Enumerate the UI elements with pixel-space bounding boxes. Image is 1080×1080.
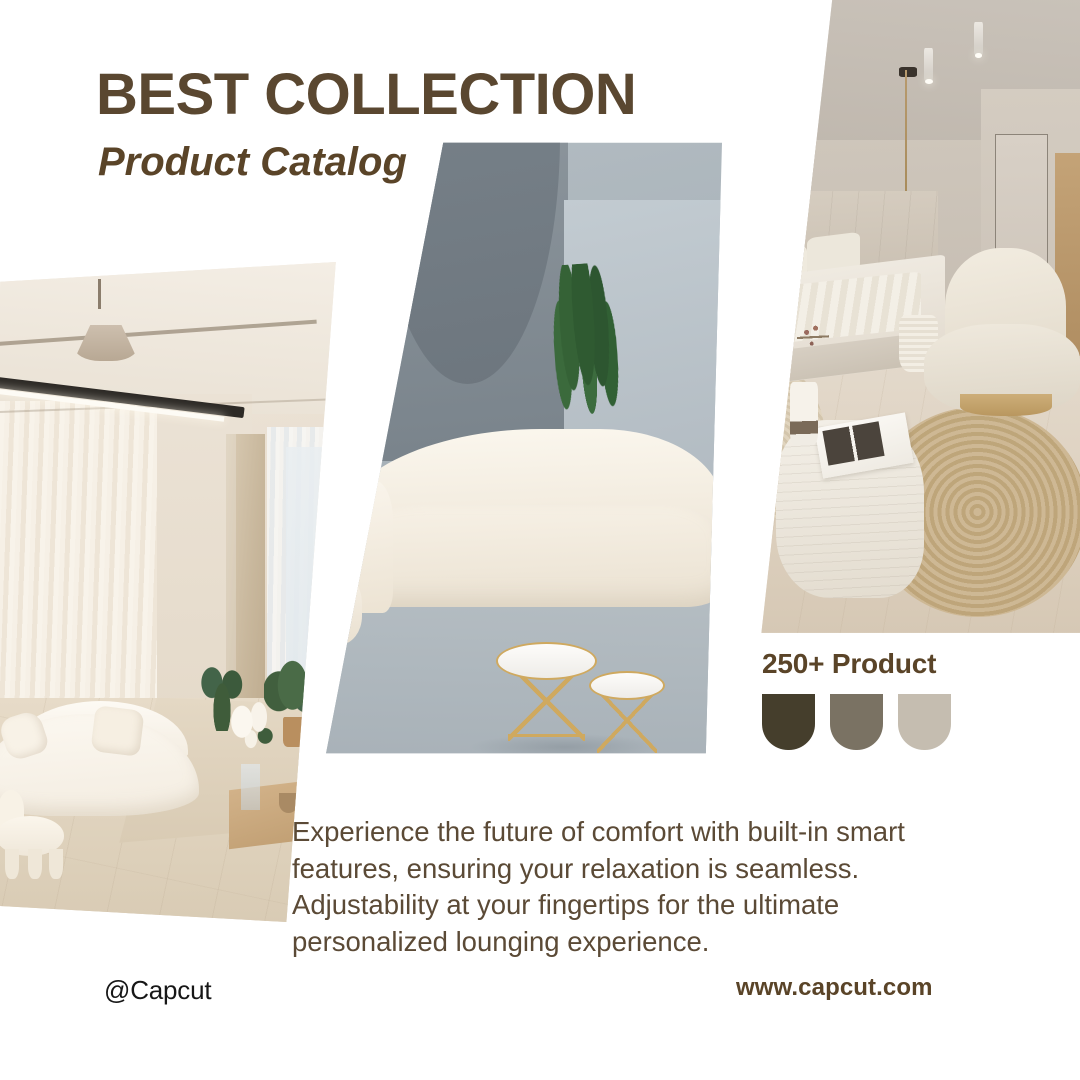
poster-canvas: BEST COLLECTION Product Catalog 250+ Pro… <box>0 0 1080 1080</box>
sofa-studio-photo <box>318 130 722 766</box>
wooden-bowl-large <box>309 770 339 791</box>
bed-pillow <box>754 245 807 293</box>
bedroom-photo <box>726 0 1080 636</box>
social-handle: @Capcut <box>104 975 211 1006</box>
ceramic-vase <box>790 382 818 446</box>
marble-side-table <box>589 671 666 700</box>
marble-coffee-table <box>496 642 597 680</box>
cushion-right <box>90 705 145 757</box>
body-description: Experience the future of comfort with bu… <box>292 814 970 960</box>
coffee-table-crossbar <box>508 734 585 737</box>
ceiling-spotlight-icon <box>974 22 983 55</box>
swatch-light-beige[interactable] <box>898 694 951 750</box>
sofa-studio-scene <box>318 130 722 766</box>
wooden-bowl-small <box>279 793 298 813</box>
swatch-dark-olive-brown[interactable] <box>762 694 815 750</box>
product-count-label: 250+ Product <box>762 650 951 678</box>
page-title: BEST COLLECTION <box>96 66 636 124</box>
pendant-rod <box>98 279 101 309</box>
ceiling-spotlight-icon <box>924 48 933 81</box>
plant-pot <box>283 717 306 747</box>
swatch-medium-taupe[interactable] <box>830 694 883 750</box>
page-subtitle: Product Catalog <box>98 140 407 184</box>
website-url[interactable]: www.capcut.com <box>736 974 933 1002</box>
bedroom-scene <box>726 0 1080 636</box>
round-ottoman <box>318 569 362 645</box>
stool-leg <box>49 849 63 879</box>
color-swatch-row <box>762 694 951 750</box>
pendant-ceiling-cap <box>899 67 917 77</box>
brass-chair-base <box>960 394 1052 416</box>
stool-leg <box>28 849 42 879</box>
product-count-block: 250+ Product <box>762 650 951 750</box>
stool-leg <box>5 849 19 879</box>
left-wall-sliver <box>726 64 761 420</box>
glass-vase <box>241 764 260 810</box>
